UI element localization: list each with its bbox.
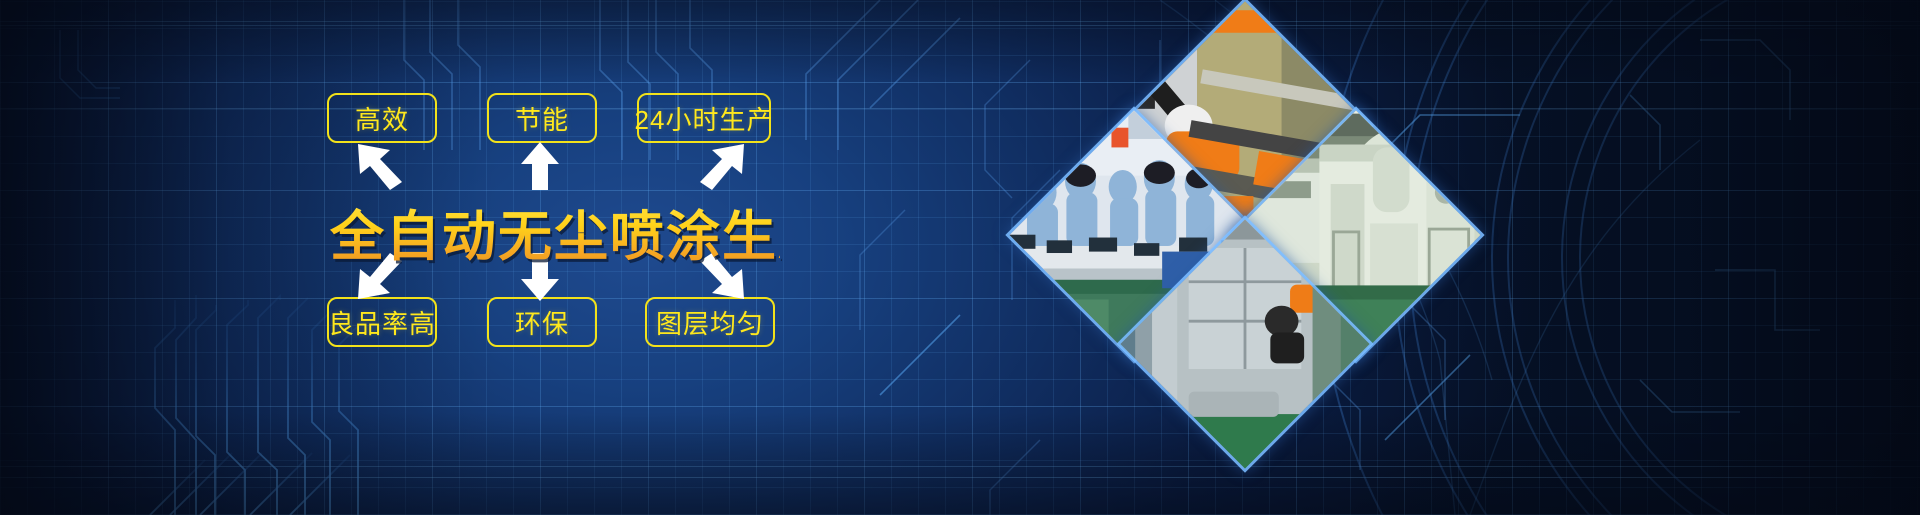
feature-tag-bottom-1[interactable]: 良品率高 [327,297,437,347]
feature-tag-label: 24小时生产 [635,100,774,137]
feature-tag-top-1[interactable]: 高效 [327,93,437,143]
feature-tag-bottom-2[interactable]: 环保 [487,297,597,347]
feature-tag-label: 良品率高 [328,304,436,341]
up-arrow-icon [515,140,565,190]
feature-tag-bottom-3[interactable]: 图层均匀 [645,297,775,347]
feature-tag-label: 节能 [515,100,569,137]
feature-tag-label: 环保 [515,304,569,341]
up-right-arrow-icon [672,140,752,190]
feature-tag-label: 高效 [355,100,409,137]
promo-banner: 高效 节能 24小时生产 良品率高 环保 图层均匀 [0,0,1920,515]
diamond-photo-collage [1045,38,1445,438]
feature-tag-label: 图层均匀 [656,304,764,341]
feature-tag-top-2[interactable]: 节能 [487,93,597,143]
feature-tag-top-3[interactable]: 24小时生产 [637,93,771,143]
up-left-arrow-icon [350,140,430,190]
banner-title: 全自动无尘喷涂生产线 [330,192,780,271]
feature-diagram: 高效 节能 24小时生产 良品率高 环保 图层均匀 [0,0,900,515]
